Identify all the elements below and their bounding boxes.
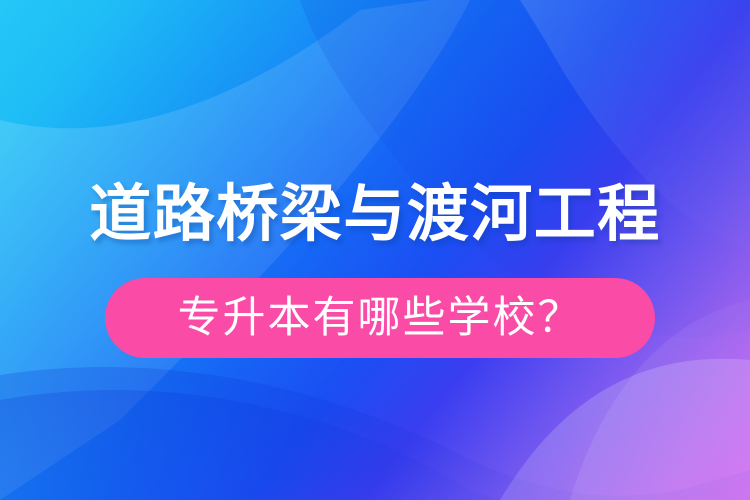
title-container: 道路桥梁与渡河工程: [0, 178, 750, 252]
blob-bottom-left-deep: [0, 390, 500, 500]
blob-bottom-right-purple: [500, 359, 750, 500]
promo-banner: 道路桥梁与渡河工程 专升本有哪些学校？: [0, 0, 750, 500]
wave-center-band: [0, 367, 750, 500]
subtitle-pill-label: 专升本有哪些学校？: [178, 294, 583, 342]
page-title: 道路桥梁与渡河工程: [89, 178, 661, 252]
subtitle-pill: 专升本有哪些学校？: [105, 278, 655, 358]
